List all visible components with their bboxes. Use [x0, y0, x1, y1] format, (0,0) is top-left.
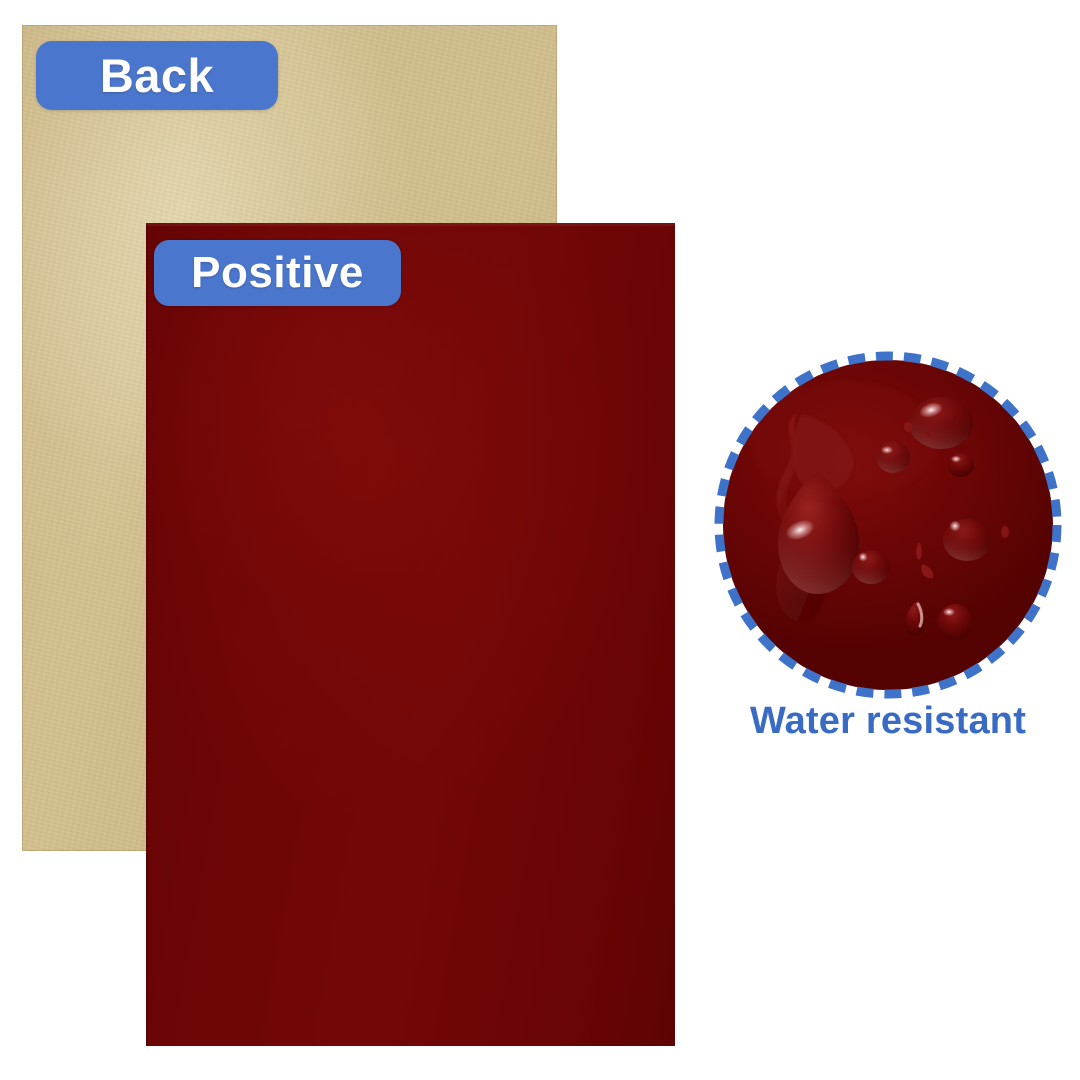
front-sheet: [146, 223, 675, 1046]
droplet-small-b-highlight: [951, 456, 961, 463]
speck-g: [991, 678, 996, 685]
droplet-mid-right-highlight: [950, 521, 961, 532]
speck-d: [921, 564, 933, 578]
surface-sheen: [747, 380, 939, 500]
droplet-lower-a: [938, 604, 972, 640]
droplet-small-b: [948, 453, 974, 477]
droplet-mid-left-highlight: [859, 553, 868, 562]
droplet-mid-left-rim: [852, 550, 890, 584]
back-label-text: Back: [100, 48, 214, 103]
back-label-badge: Back: [36, 41, 278, 110]
droplet-lower-a-highlight: [943, 608, 955, 616]
water-droplets-illustration: [723, 360, 1053, 690]
water-resistant-caption: Water resistant: [706, 700, 1070, 743]
speck-e: [1001, 526, 1009, 538]
product-image-canvas: Back Positive: [0, 0, 1080, 1080]
speck-f: [977, 674, 982, 682]
positive-label-badge: Positive: [154, 240, 401, 306]
red-surface-disc: [723, 360, 1053, 690]
speck-c: [916, 542, 922, 560]
water-resistant-feature: Water resistant: [706, 348, 1070, 738]
water-drop-circle: [711, 348, 1065, 702]
positive-label-text: Positive: [191, 248, 364, 298]
